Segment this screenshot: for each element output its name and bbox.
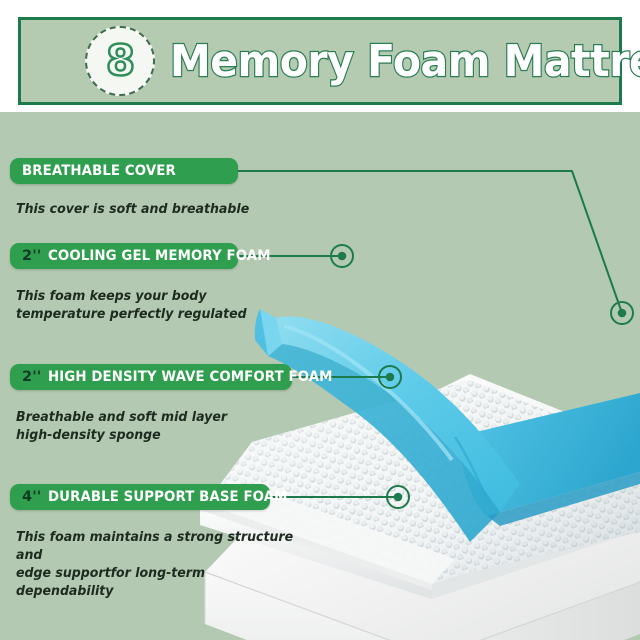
layer-thickness: 2''	[22, 248, 41, 264]
layer-label-text: DURABLE SUPPORT BASE FOAM	[48, 489, 288, 505]
content-panel: BREATHABLE COVER This cover is soft and …	[0, 112, 640, 640]
layer-label-text: BREATHABLE COVER	[22, 163, 176, 179]
step-number-badge: 8	[85, 26, 155, 96]
layer-label-breathable-cover[interactable]: BREATHABLE COVER	[10, 158, 238, 184]
layer-thickness: 4''	[22, 489, 41, 505]
infographic-root: 8 Memory Foam Mattress	[0, 0, 640, 640]
step-number: 8	[106, 40, 134, 82]
layer-label-base-foam[interactable]: 4'' DURABLE SUPPORT BASE FOAM	[10, 484, 270, 510]
layer-description-breathable-cover: This cover is soft and breathable	[16, 200, 267, 218]
layer-label-text: COOLING GEL MEMORY FOAM	[48, 248, 271, 264]
layer-label-wave-comfort[interactable]: 2'' HIGH DENSITY WAVE COMFORT FOAM	[10, 364, 292, 390]
layer-label-text: HIGH DENSITY WAVE COMFORT FOAM	[48, 369, 333, 385]
layer-thickness: 2''	[22, 369, 41, 385]
marker-breathable-cover	[611, 302, 633, 324]
leader-line-breathable-cover	[235, 171, 622, 313]
layer-label-cooling-gel[interactable]: 2'' COOLING GEL MEMORY FOAM	[10, 243, 238, 269]
layer-description-wave-comfort: Breathable and soft mid layer high-densi…	[16, 408, 276, 444]
layer-description-cooling-gel: This foam keeps your body temperature pe…	[16, 287, 276, 323]
layer-description-base-foam: This foam maintains a strong structure a…	[16, 528, 304, 600]
page-title: Memory Foam Mattress	[170, 22, 640, 102]
